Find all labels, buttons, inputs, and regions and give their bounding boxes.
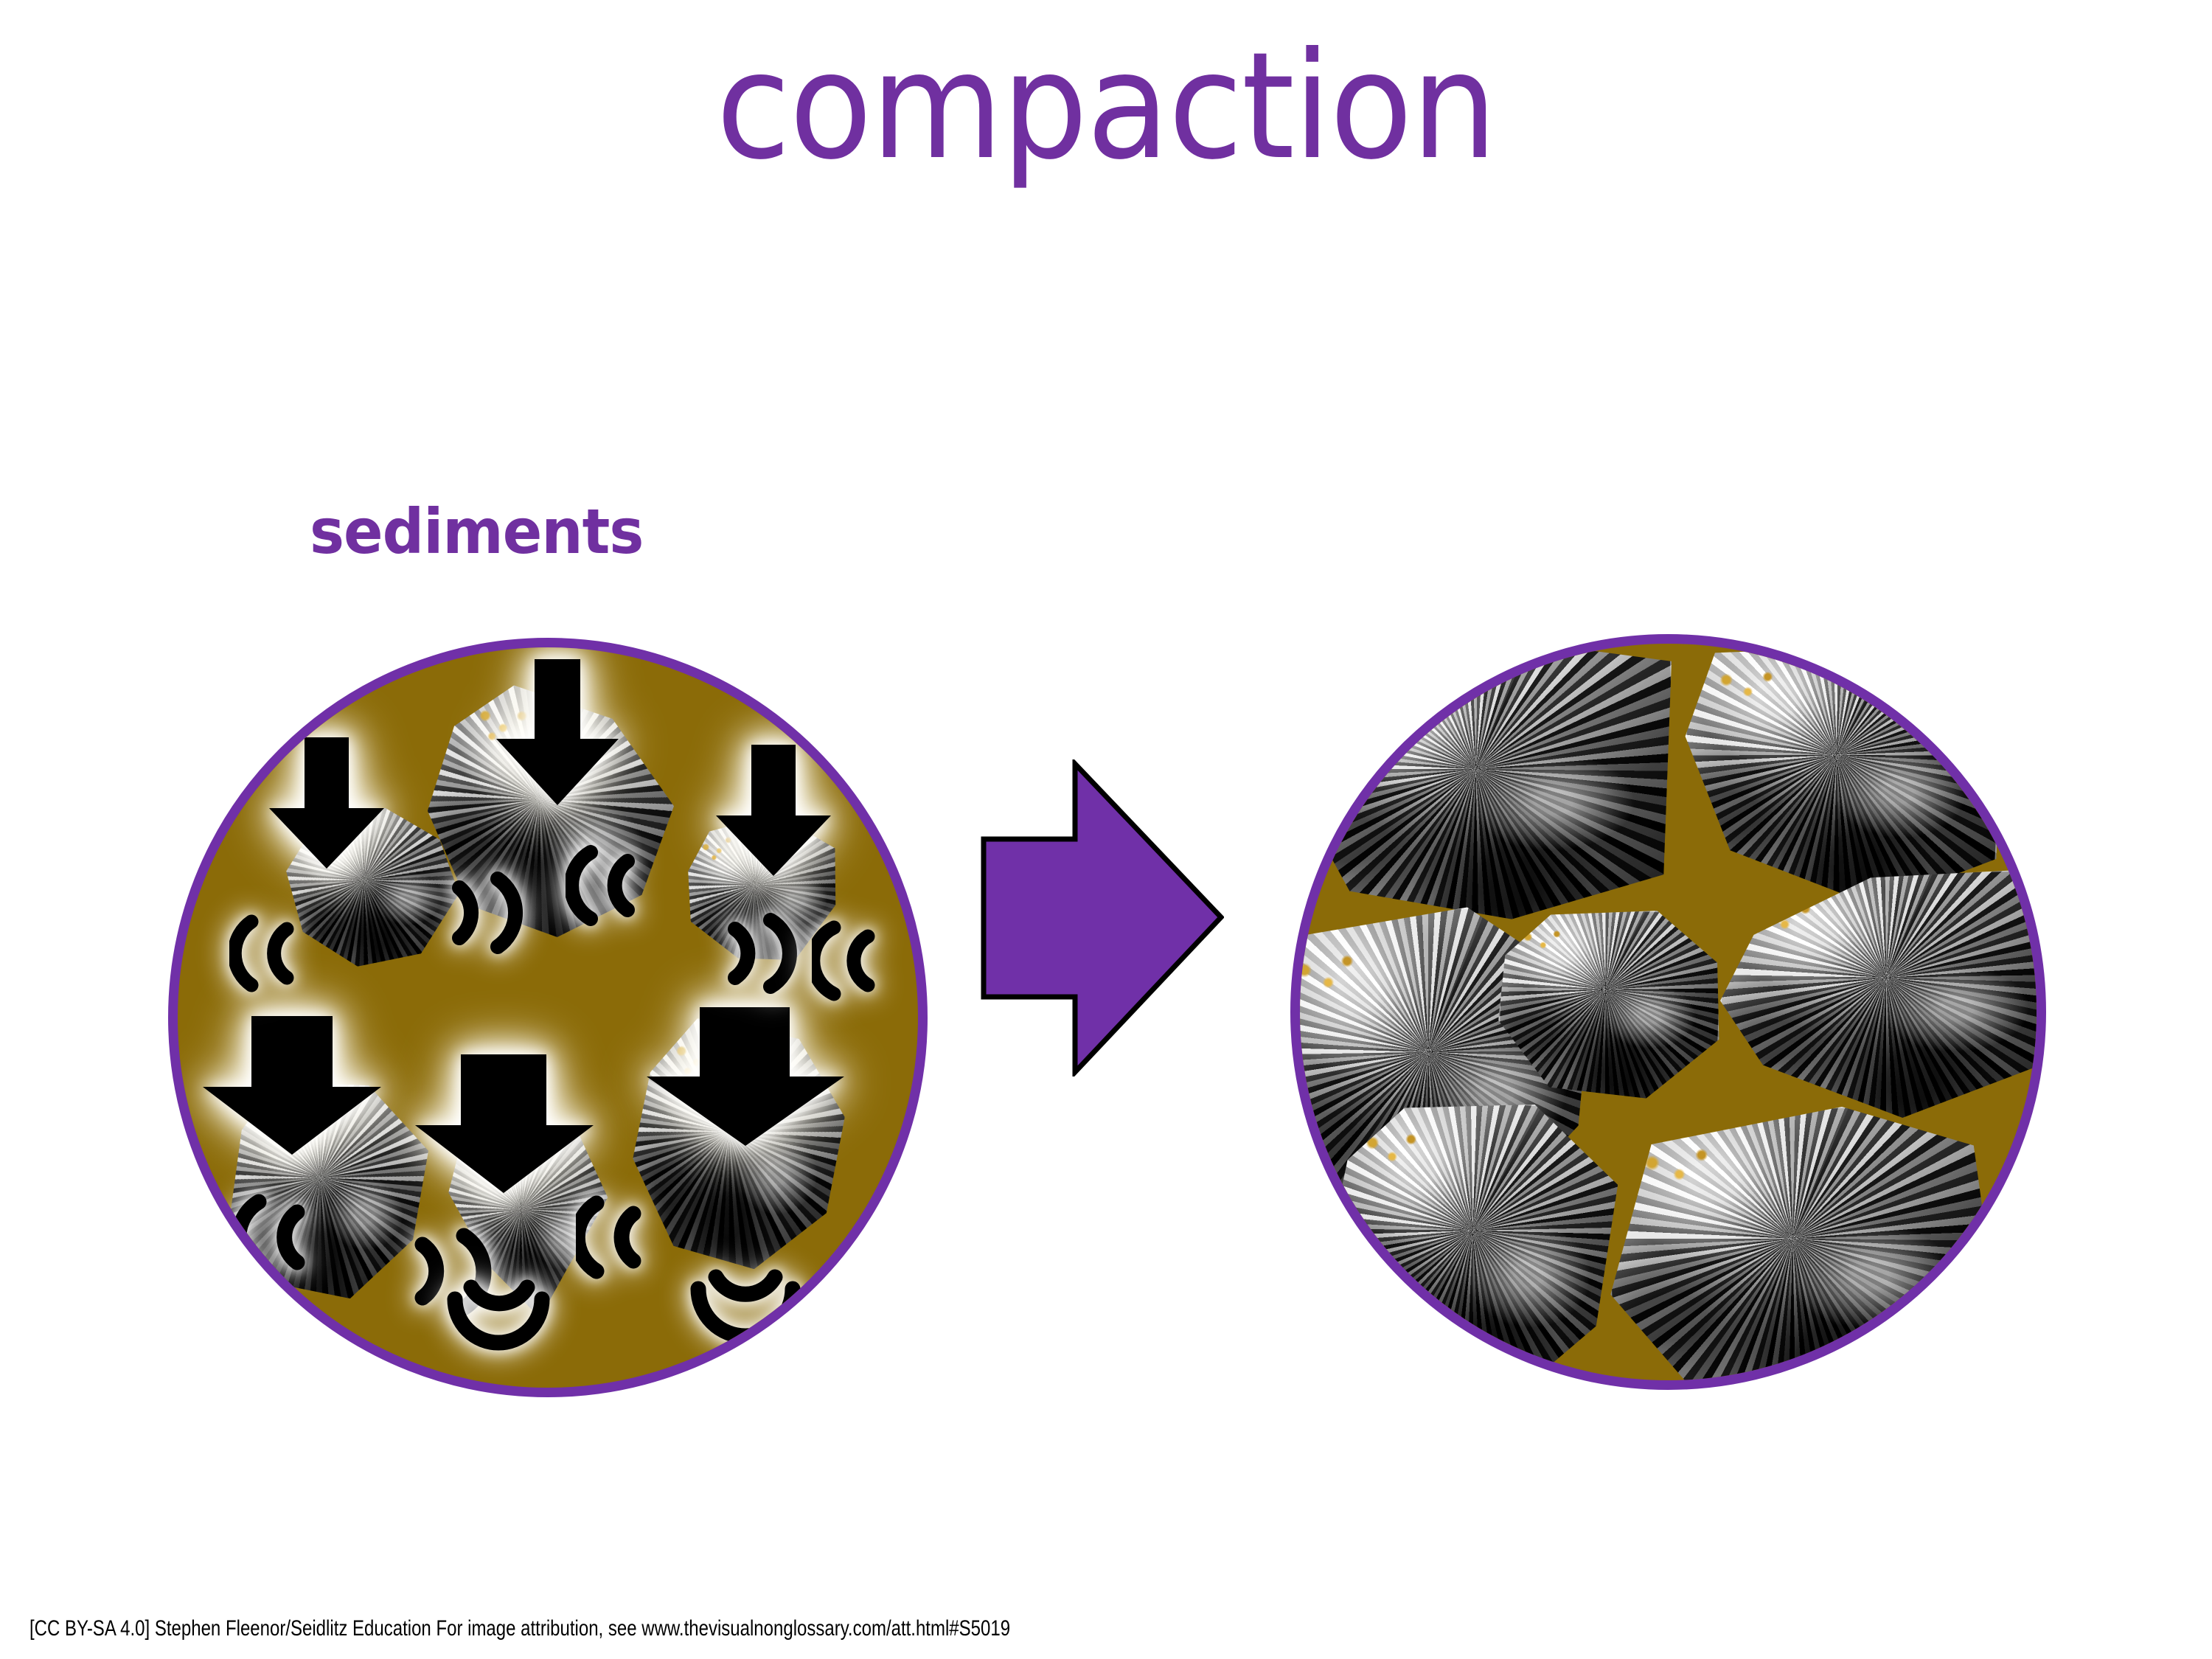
- motion-arc-icon: [686, 1267, 804, 1355]
- motion-arc-icon: [694, 913, 797, 994]
- pressure-arrow-down-icon: [200, 1016, 384, 1156]
- motion-arc-icon: [229, 913, 325, 994]
- compacted-particle: [1290, 644, 1680, 938]
- compaction-process-arrow-icon: [981, 759, 1224, 1077]
- pressure-arrow-down-icon: [714, 745, 832, 877]
- pressure-arrow-down-icon: [495, 659, 620, 807]
- pressure-arrow-down-icon: [642, 1007, 849, 1147]
- compacted-particle: [1604, 1102, 1998, 1390]
- attribution-footer: [CC BY-SA 4.0] Stephen Fleenor/Seidlitz …: [29, 1616, 1010, 1641]
- compacted-particle: [1718, 869, 2046, 1126]
- motion-arc-icon: [421, 869, 524, 957]
- compacted-sediments-circle: [1290, 634, 2046, 1390]
- motion-arc-icon: [576, 1193, 672, 1281]
- slide-canvas: compaction sediments: [0, 0, 2212, 1659]
- sediments-label: sediments: [310, 495, 643, 568]
- motion-arc-icon: [235, 1193, 338, 1281]
- loose-sediments-circle: [168, 638, 928, 1397]
- pressure-arrow-down-icon: [412, 1054, 597, 1194]
- motion-arc-icon: [566, 845, 669, 926]
- page-title: compaction: [88, 29, 2124, 184]
- pressure-arrow-down-icon: [268, 737, 386, 870]
- motion-arc-icon: [445, 1274, 555, 1363]
- motion-arc-icon: [812, 920, 908, 1001]
